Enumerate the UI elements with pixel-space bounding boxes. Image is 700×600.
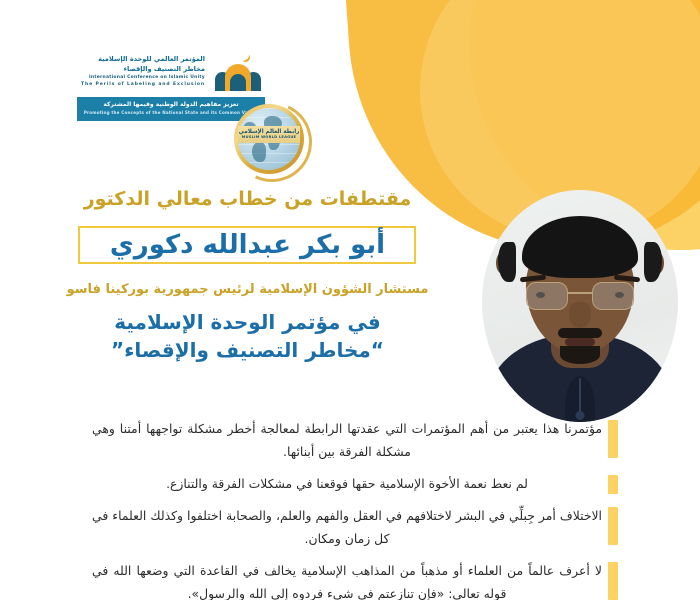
- quote-marker-bar: [608, 507, 618, 545]
- conference-name-arabic-line2: مخاطر التصنيف والإقصاء: [65, 65, 205, 75]
- conference-title-line2: “مخاطر التصنيف والإقصاء”: [75, 338, 420, 362]
- conference-logo-texts: المؤتمر العالمي للوحدة الإسلامية مخاطر ا…: [65, 55, 205, 89]
- portrait-nose: [569, 302, 591, 328]
- quote-marker-bar: [608, 475, 618, 494]
- arch-shape: [215, 63, 261, 91]
- conference-logo-top: المؤتمر العالمي للوحدة الإسلامية مخاطر ا…: [65, 52, 265, 92]
- quote-text: لا أعرف عالماً من العلماء أو مذهباً من ا…: [92, 560, 602, 600]
- quote-item: مؤتمرنا هذا يعتبر من أهم المؤتمرات التي …: [92, 418, 602, 464]
- portrait-goatee: [560, 346, 600, 364]
- speaker-role: مستشار الشؤون الإسلامية لرئيس جمهورية بو…: [60, 282, 435, 297]
- headline-kicker: مقتطفات من خطاب معالي الدكتور: [75, 188, 420, 210]
- portrait-mustache: [558, 328, 602, 338]
- muslim-world-league-logo: رابطة العالم الإسلامي MUSLIM WORLD LEAGU…: [228, 102, 310, 182]
- crescent-moon-icon: [238, 52, 247, 61]
- quote-marker-bar: [608, 562, 618, 600]
- quote-text: الاختلاف أمر جِبلِّي في البشر لاختلافهم …: [92, 505, 602, 551]
- poster-canvas: المؤتمر العالمي للوحدة الإسلامية مخاطر ا…: [0, 0, 700, 600]
- quote-text: لم نعط نعمة الأخوة الإسلامية حقها فوقعنا…: [92, 473, 602, 496]
- conference-title-line1: في مؤتمر الوحدة الإسلامية: [75, 310, 420, 334]
- quote-text: مؤتمرنا هذا يعتبر من أهم المؤتمرات التي …: [92, 418, 602, 464]
- speaker-portrait: [482, 190, 678, 422]
- portrait-hair: [522, 216, 638, 278]
- quote-item: الاختلاف أمر جِبلِّي في البشر لاختلافهم …: [92, 505, 602, 551]
- quotes-list: مؤتمرنا هذا يعتبر من أهم المؤتمرات التي …: [92, 418, 602, 600]
- eyeglass-bridge: [568, 292, 592, 294]
- globe-crescent-accent: [221, 91, 324, 194]
- mosque-arch-icon: [211, 52, 265, 92]
- arch-center-inner: [230, 74, 246, 91]
- portrait-mouth: [565, 338, 595, 346]
- conference-name-english-line2: The Perils of Labeling and Exclusion: [65, 82, 205, 89]
- eyeglass-lens-right: [592, 282, 634, 310]
- conference-name-arabic-line1: المؤتمر العالمي للوحدة الإسلامية: [65, 55, 205, 65]
- quote-item: لم نعط نعمة الأخوة الإسلامية حقها فوقعنا…: [92, 473, 602, 496]
- quote-marker-bar: [608, 420, 618, 458]
- quote-item: لا أعرف عالماً من العلماء أو مذهباً من ا…: [92, 560, 602, 600]
- portrait-hair-right: [644, 242, 662, 282]
- eyeglass-lens-left: [526, 282, 568, 310]
- portrait-hair-left: [498, 242, 516, 282]
- speaker-name: أبو بكر عبدالله دكوري: [75, 230, 420, 260]
